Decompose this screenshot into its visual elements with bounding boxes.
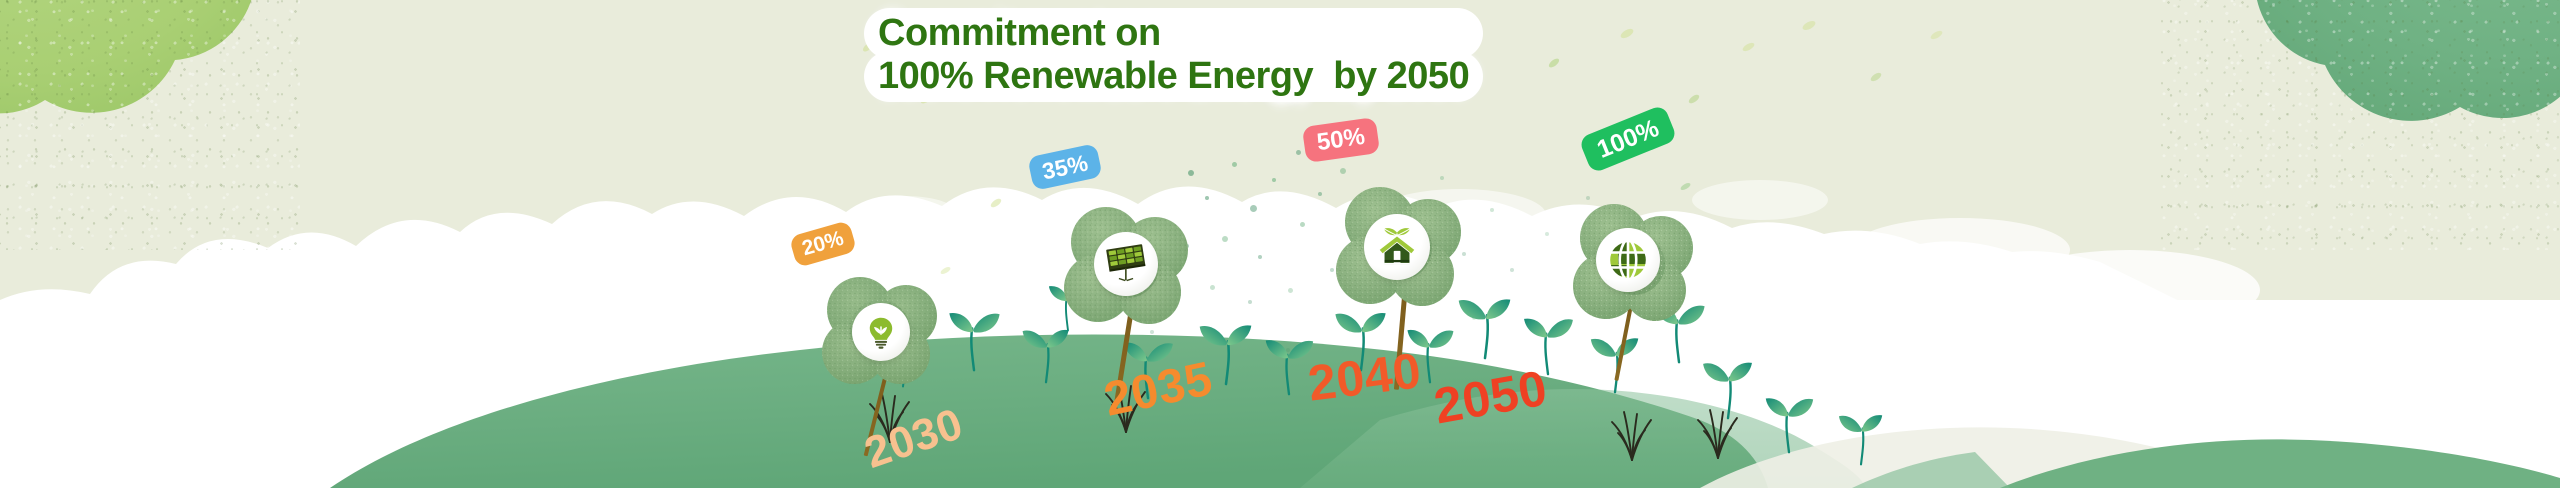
green-house-icon [1374, 224, 1420, 270]
percent-badge-2030-label: 20% [799, 227, 846, 262]
icon-bubble-2030[interactable] [852, 303, 910, 361]
globe-icon [1605, 237, 1651, 283]
sprout-plant [1836, 404, 1886, 466]
renewable-energy-banner: Commitment on 100% Renewable Energy by 2… [0, 0, 2560, 488]
milestone-2035[interactable]: 35% 2035 [1032, 166, 1262, 416]
icon-bubble-2050[interactable] [1596, 228, 1660, 292]
title-line-2: 100% Renewable Energy by 2050 [878, 57, 1469, 96]
corner-blob-top-right [2160, 0, 2560, 250]
percent-badge-2040-label: 50% [1315, 123, 1366, 157]
icon-bubble-2040[interactable] [1364, 214, 1430, 280]
percent-badge-2035-label: 35% [1040, 149, 1091, 185]
page-title: Commitment on 100% Renewable Energy by 2… [878, 14, 1469, 96]
title-line-1: Commitment on [878, 14, 1469, 53]
milestone-2050[interactable]: 100% 2050 [1522, 160, 1772, 410]
solar-panel-icon [1104, 242, 1148, 286]
corner-blob-top-left [0, 0, 300, 250]
milestone-2040[interactable]: 50% 2040 [1294, 146, 1534, 396]
icon-bubble-2035[interactable] [1094, 232, 1158, 296]
milestone-2030[interactable]: 20% 2030 [796, 236, 1016, 466]
lightbulb-leaf-icon [862, 313, 900, 351]
